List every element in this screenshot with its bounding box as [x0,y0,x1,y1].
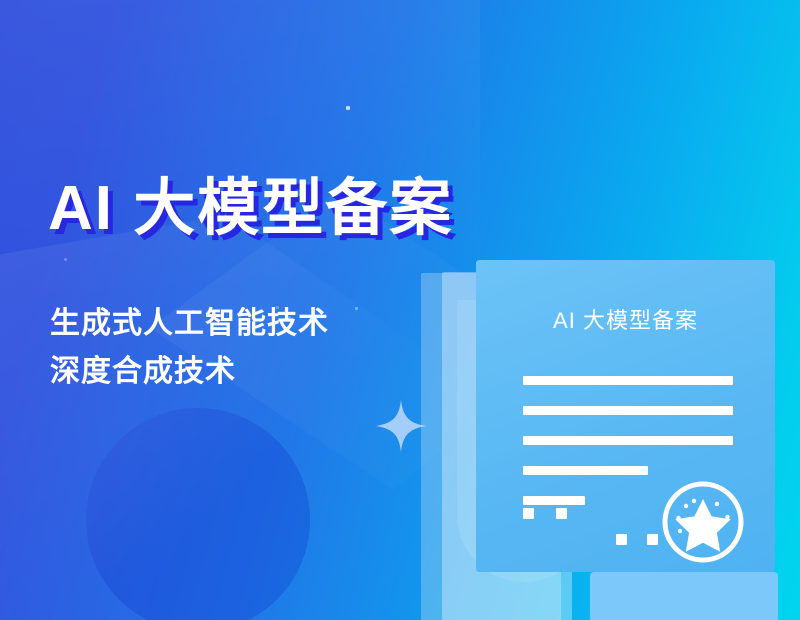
ai-model-filing-banner: AI 大模型备案 生成式人工智能技术 深度合成技术 AI 大模型备案 [0,0,800,620]
document-text-line [523,376,733,385]
document-square-mark [647,534,658,545]
document-square-mark [556,508,567,519]
document-card-front: AI 大模型备案 [476,260,775,572]
four-point-sparkle-icon [376,400,426,452]
document-square-marks [523,508,703,558]
document-square-mark [523,508,534,519]
subtitle-line-1: 生成式人工智能技术 [50,300,470,348]
sparkle-dot-icon [64,258,67,261]
headline-block: AI 大模型备案 [48,170,588,248]
star-seal-icon [658,477,748,567]
page-title: AI 大模型备案 [48,170,588,248]
document-card-title: AI 大模型备案 [476,306,775,336]
document-square-mark [616,534,627,545]
background-facet-lower [0,215,440,620]
large-circle-sheen [86,408,310,620]
document-page-rounded [457,300,591,582]
subtitle-line-2: 深度合成技术 [50,348,470,396]
background-facet-top [0,0,480,318]
document-text-lines [523,376,733,519]
sparkle-dot-icon [346,106,350,110]
large-circle-decoration [86,408,310,620]
document-text-line [523,406,733,415]
document-text-line [523,436,733,445]
document-text-line [523,496,585,505]
subtitle-block: 生成式人工智能技术 深度合成技术 [50,300,470,396]
document-text-line [523,466,648,475]
document-under-band [590,572,778,620]
